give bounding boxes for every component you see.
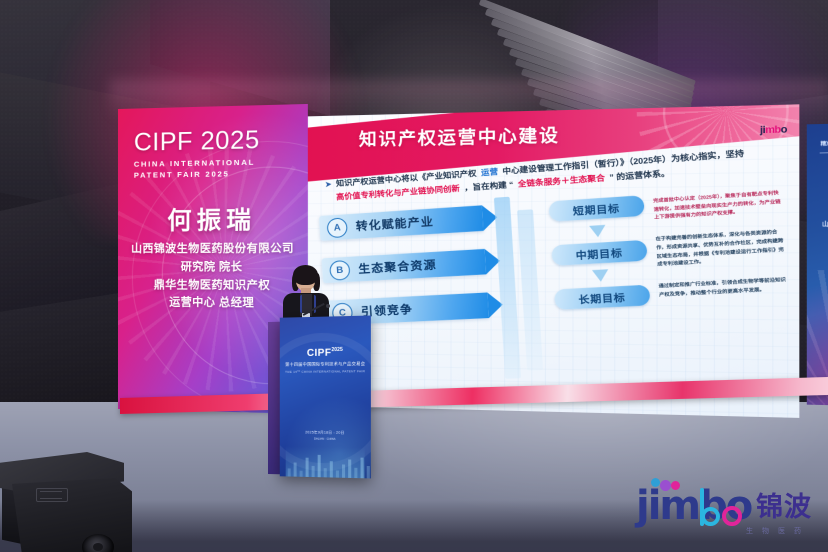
speaker-affiliation: 山西锦波生物医药股份有限公司 研究院 院长 鼎华生物医药知识产权 运营中心 总经…: [813, 219, 828, 265]
affiliation-line: 山西锦波生物医药股份有限公司: [122, 240, 304, 258]
lectern-logo-year: 2025: [331, 347, 342, 353]
speaker-affiliation: 山西锦波生物医药股份有限公司 研究院 院长 鼎华生物医药知识产权 运营中心 总经…: [122, 240, 304, 314]
watermark-b-glyph-icon: [700, 488, 720, 526]
lectern-date-cn: 2025年9月18日 - 20日: [280, 430, 371, 436]
session-topic-line1: 精准激发行业活力，构建协同创新格局: [814, 138, 828, 149]
lectern-title-en: THE 14ᵀᴴ CHINA INTERNATIONAL PATENT FAIR: [280, 369, 371, 374]
session-topic: 精准激发行业活力，构建协同创新格局 —— 专利转化行业高质量发展专题交流: [814, 138, 828, 159]
watermark-o-glyph-icon: [722, 506, 742, 526]
slide-title: 知识产权运营中心建设: [359, 121, 560, 151]
conference-stage-photo: CIPF 2025 CHINA INTERNATIONAL PATENT FAI…: [0, 0, 828, 552]
cipf-year: 2025: [201, 126, 260, 156]
speaker-name: 何振瑞: [807, 188, 828, 212]
lectern-logo: CIPF2025 第十四届中国国际专利技术与产品交易会 THE 14ᵀᴴ CHI…: [280, 346, 371, 374]
pill-label: 生态聚合资源: [358, 256, 437, 277]
capability-pill[interactable]: B 生态聚合资源: [322, 249, 487, 283]
goal-description: 通过制定和推广行业标准，引领合成生物学等前沿知识产权及竞争，推动整个行业的更高水…: [658, 275, 787, 298]
speaker-name: 何振瑞: [118, 199, 308, 236]
cipf-letters: CIPF: [134, 127, 193, 156]
speaker-intro-panel-right: 精准激发行业活力，构建协同创新格局 —— 专利转化行业高质量发展专题交流 何振瑞…: [807, 122, 828, 408]
watermark-chinese: 锦波: [756, 485, 812, 524]
monitor-front-face: [12, 478, 132, 552]
lectern-logo-letters: CIPF: [307, 347, 332, 359]
skyline-graphic: [286, 446, 365, 478]
affiliation-line: 鼎华生物医药知识产权: [122, 277, 304, 296]
affiliation-line: 山西锦波生物医药股份有限公司: [813, 219, 828, 231]
affiliation-line: 运营中心 总经理: [813, 253, 828, 264]
lectern-title-cn: 第十四届中国国际专利技术与产品交易会: [280, 361, 371, 368]
speaker-brand-logo-icon: [36, 488, 68, 502]
goal-timeline: 短期目标 中期目标 长期目标: [548, 195, 650, 310]
bullet-arrow-icon: ➤: [324, 178, 332, 192]
stage-monitor-speaker: [0, 452, 152, 552]
cipf-subtitle-line2: PATENT FAIR 2025: [134, 168, 260, 181]
affiliation-line: 研究院 院长: [122, 259, 304, 277]
pill-label: 转化赋能产业: [355, 213, 434, 235]
presentation-slide: 知识产权运营中心建设 jimbo ➤ 知识产权运营中心将以《产业知识产权 运营 …: [308, 104, 800, 418]
brand-watermark: jimbo 锦波 生物医药: [636, 480, 812, 536]
lectern-date-block: 2025年9月18日 - 20日 DALIAN · CHINA: [280, 430, 371, 441]
lectern: CIPF2025 第十四届中国国际专利技术与产品交易会 THE 14ᵀᴴ CHI…: [268, 315, 381, 481]
cipf-subtitle: CHINA INTERNATIONAL PATENT FAIR 2025: [134, 156, 260, 180]
goal-description: 在于构建完善的创新生态体系，深化与各类资源的合作，形成资源共享、优势互补的合作社…: [655, 228, 785, 269]
lectern-front-panel: CIPF2025 第十四届中国国际专利技术与产品交易会 THE 14ᵀᴴ CHI…: [280, 316, 371, 479]
affiliation-line: 研究院 院长: [813, 230, 828, 242]
speaker-driver-icon: [82, 534, 114, 552]
slide-brand-logo: jimbo: [760, 124, 787, 136]
hair: [293, 265, 318, 285]
pill-badge-letter: B: [329, 259, 350, 280]
affiliation-line: 鼎华生物医药知识产权: [813, 242, 828, 254]
cipf-wordmark: CIPF 2025: [134, 128, 260, 156]
lectern-logo-main: CIPF2025: [280, 346, 371, 359]
session-topic-line2: —— 专利转化行业高质量发展专题交流: [814, 147, 828, 158]
watermark-subtitle: 生物医药: [746, 526, 810, 536]
pill-badge-letter: A: [326, 217, 347, 238]
goal-description-list: 完成首批中心认定（2025年），聚焦于自有靶点专利快速转化，加速技术壁垒向现实生…: [653, 188, 788, 311]
bullet-text-b: 运营: [481, 166, 499, 181]
cipf-logo-lockup: CIPF 2025 CHINA INTERNATIONAL PATENT FAI…: [134, 128, 260, 181]
affiliation-line: 运营中心 总经理: [122, 294, 304, 313]
